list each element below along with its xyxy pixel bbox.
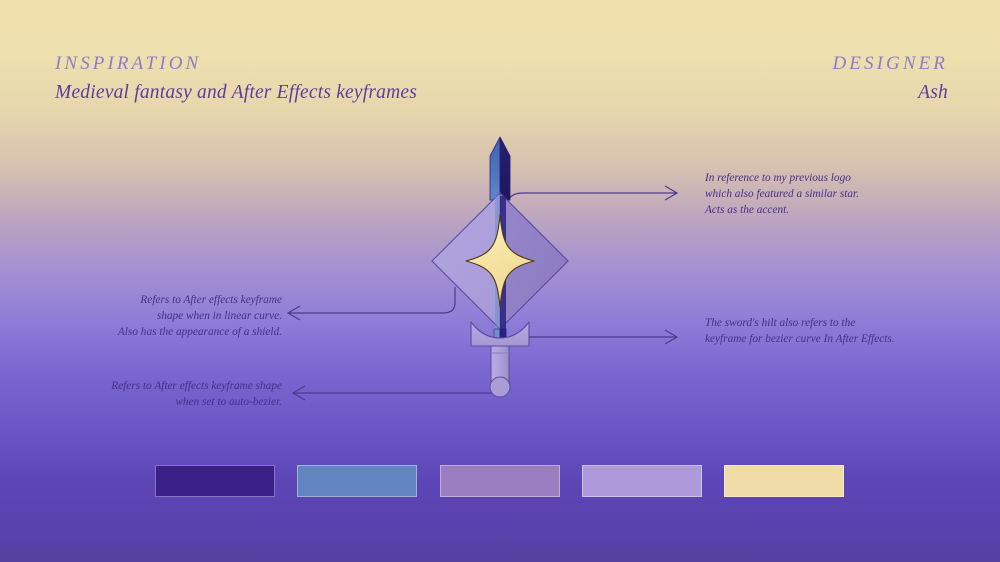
swatch-medium-purple[interactable] — [440, 465, 560, 497]
swatch-deep-indigo[interactable] — [155, 465, 275, 497]
poster-canvas: INSPIRATION Medieval fantasy and After E… — [0, 0, 1000, 562]
pommel — [490, 377, 510, 397]
connector-hilt — [529, 330, 677, 344]
swatch-steel-blue[interactable] — [297, 465, 417, 497]
color-palette — [0, 465, 1000, 500]
swatch-pale-cream[interactable] — [724, 465, 844, 497]
blade-upper — [490, 137, 510, 200]
swatch-light-lavender[interactable] — [582, 465, 702, 497]
connector-shield — [288, 287, 455, 320]
connector-star — [506, 186, 677, 210]
connector-pommel — [293, 386, 495, 400]
